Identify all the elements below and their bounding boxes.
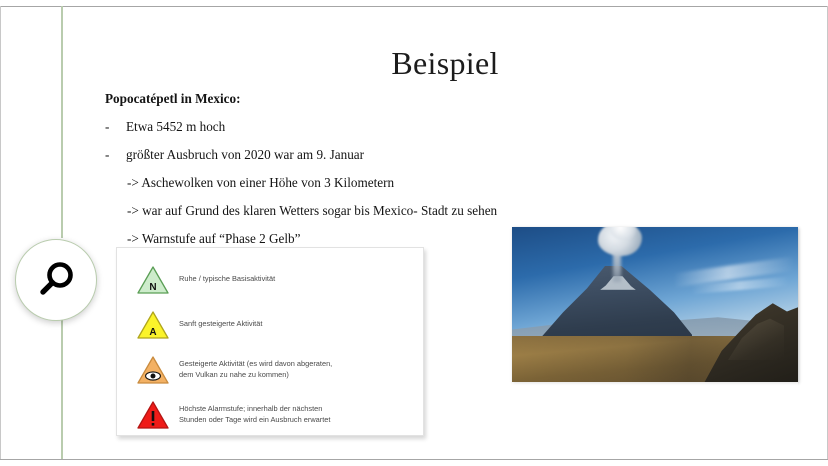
sub-point: -> Aschewolken von einer Höhe von 3 Kilo…: [127, 174, 575, 191]
legend-label: Gesteigerte Aktivität (es wird davon abg…: [179, 359, 423, 380]
triangle-red-exclamation-icon: [117, 400, 179, 430]
page-title: Beispiel: [62, 44, 828, 82]
legend-row: N Ruhe / typische Basisaktivität: [117, 257, 423, 302]
legend-label-line2: Stunden oder Tage wird ein Ausbruch erwa…: [179, 415, 415, 426]
svg-text:N: N: [149, 282, 156, 293]
decorative-vertical-rule-bottom: [61, 318, 63, 459]
slide-frame-bottom: [0, 459, 828, 460]
slide-frame-left: [0, 6, 1, 459]
legend-row: Höchste Alarmstufe; innerhalb der nächst…: [117, 392, 423, 437]
legend-row: A Sanft gesteigerte Aktivität: [117, 302, 423, 347]
legend-label-line2: dem Vulkan zu nahe zu kommen): [179, 370, 415, 381]
legend-label-line1: Sanft gesteigerte Aktivität: [179, 319, 262, 328]
bullet-marker: -: [105, 146, 126, 163]
legend-label-line1: Höchste Alarmstufe; innerhalb der nächst…: [179, 404, 415, 415]
sub-point: -> Warnstufe auf “Phase 2 Gelb”: [127, 230, 575, 247]
triangle-orange-eye-icon: [117, 355, 179, 385]
legend-label-line1: Ruhe / typische Basisaktivität: [179, 274, 275, 283]
slide-canvas: Beispiel Popocatépetl in Mexico: - Etwa …: [0, 0, 828, 466]
legend-row: Gesteigerte Aktivität (es wird davon abg…: [117, 347, 423, 392]
magnifier-badge: [15, 239, 97, 321]
svg-text:A: A: [149, 327, 156, 338]
bullet-text: Etwa 5452 m hoch: [126, 118, 575, 135]
triangle-green-n-icon: N: [117, 265, 179, 295]
bullet-item: - größter Ausbruch von 2020 war am 9. Ja…: [105, 146, 575, 163]
body-lead: Popocatépetl in Mexico:: [105, 90, 575, 107]
alert-level-legend: N Ruhe / typische Basisaktivität A Sanft…: [116, 247, 424, 436]
sub-point: -> war auf Grund des klaren Wetters soga…: [127, 202, 575, 219]
legend-label: Ruhe / typische Basisaktivität: [179, 274, 423, 285]
legend-label: Sanft gesteigerte Aktivität: [179, 319, 423, 330]
slide-body: Popocatépetl in Mexico: - Etwa 5452 m ho…: [105, 90, 575, 258]
bullet-text: größter Ausbruch von 2020 war am 9. Janu…: [126, 146, 575, 163]
photo-reflection: [512, 382, 798, 433]
slide-frame-top: [0, 6, 828, 7]
bullet-item: - Etwa 5452 m hoch: [105, 118, 575, 135]
magnifier-icon: [34, 258, 78, 302]
decorative-vertical-rule-top: [61, 6, 63, 238]
popocatepetl-eruption-photo: [512, 227, 798, 433]
legend-label: Höchste Alarmstufe; innerhalb der nächst…: [179, 404, 423, 425]
legend-label-line1: Gesteigerte Aktivität (es wird davon abg…: [179, 359, 415, 370]
photo-scene: [512, 227, 798, 382]
photo-frame: [512, 227, 798, 382]
reflection-fade-mask: [512, 382, 798, 433]
triangle-yellow-a-icon: A: [117, 310, 179, 340]
bullet-marker: -: [105, 118, 126, 135]
